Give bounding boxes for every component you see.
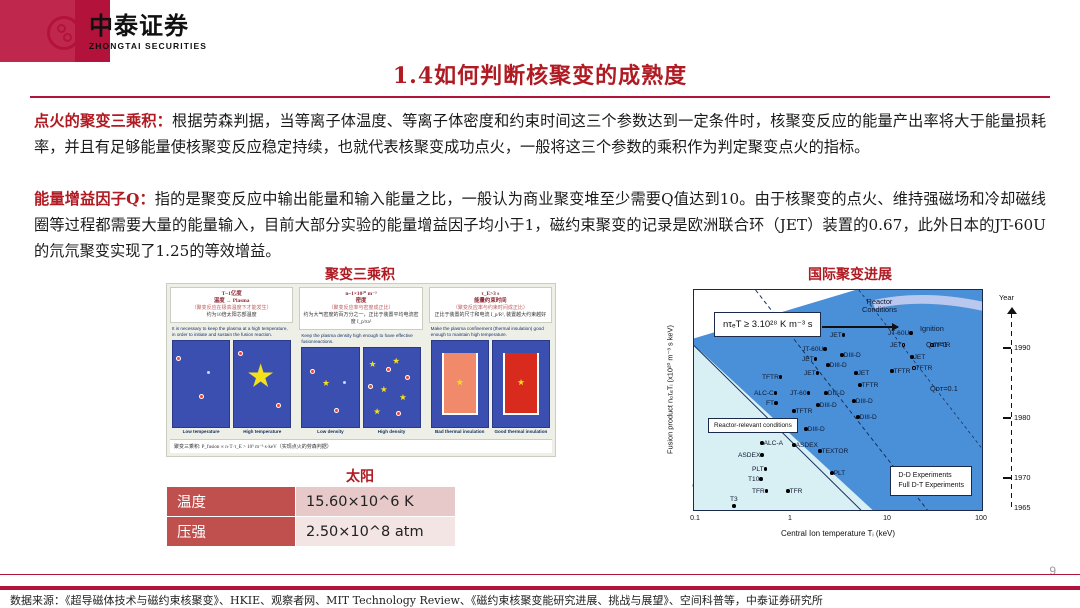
fusion-progress-chart: Fusion product n₀τₑTᵢ (x10²⁰ m⁻³ s keV) … bbox=[645, 285, 1050, 555]
ion-particle-icon bbox=[310, 369, 315, 374]
triple-column-confinement: τ_E>3 s 能量约束时间 （聚变反应率与约束时间成正比） 正比于装置的尺寸和… bbox=[429, 287, 552, 436]
electron-particle-icon bbox=[343, 381, 346, 384]
data-point: DIII-D bbox=[856, 414, 877, 421]
page-title: 1.4如何判断核聚变的成熟度 bbox=[0, 58, 1080, 90]
data-point: DIII-D bbox=[840, 352, 861, 359]
table-row: 压强 2.50×10^8 atm bbox=[167, 517, 456, 547]
column-symbol: T~1亿度 bbox=[173, 291, 290, 298]
chart-y-axis-label: Fusion product n₀τₑTᵢ (x10²⁰ m⁻³ s keV) bbox=[666, 305, 675, 475]
annotation-arrow-icon bbox=[822, 326, 898, 328]
fusion-star-icon bbox=[380, 386, 387, 393]
paragraph-lead: 点火的聚变三乘积： bbox=[34, 112, 172, 130]
column-header: n~1×10²⁰ m⁻³ 密度 （聚变反应率与密度成正比） 约为大气密度的百万分… bbox=[299, 287, 422, 330]
ion-particle-icon bbox=[386, 367, 391, 372]
data-point: FT bbox=[766, 400, 778, 407]
year-axis-tick: 1970 bbox=[1003, 473, 1030, 482]
data-point: PLT bbox=[830, 470, 845, 477]
label-reactor-conditions: ReactorConditions bbox=[862, 298, 897, 314]
data-point: JT-60U bbox=[888, 330, 913, 337]
column-note: （聚变反应在极高温度下才能发生） bbox=[173, 305, 290, 312]
column-subtitle: 密度 bbox=[302, 298, 419, 305]
illustration-canvas bbox=[233, 340, 291, 428]
triple-product-figure: T~1亿度 温度 → Plasma （聚变反应在极高温度下才能发生） 约为10倍… bbox=[166, 283, 556, 457]
paragraph-ignition: 点火的聚变三乘积：根据劳森判据，当等离子体温度、等离子体密度和约束时间这三个参数… bbox=[34, 108, 1046, 160]
ion-particle-icon bbox=[238, 351, 243, 356]
legend-label: Full D-T Experiments bbox=[898, 482, 964, 489]
illustration-canvas bbox=[301, 347, 359, 428]
data-point: TFTR bbox=[890, 368, 910, 375]
illustration-low-density: Low density bbox=[301, 347, 359, 434]
x-axis-tick: 10 bbox=[883, 515, 891, 522]
vessel-icon bbox=[503, 353, 539, 415]
label-ignition: Ignition bbox=[920, 324, 944, 333]
triple-column-density: n~1×10²⁰ m⁻³ 密度 （聚变反应率与密度成正比） 约为大气密度的百万分… bbox=[299, 287, 422, 436]
column-subtitle: 能量约束时间 bbox=[432, 298, 549, 305]
x-axis-tick: 1 bbox=[788, 515, 792, 522]
sun-parameters-table: 温度 15.60×10^6 K 压强 2.50×10^8 atm bbox=[166, 486, 456, 547]
column-english-text: Keep the plasma density high enough to h… bbox=[299, 330, 422, 347]
column-illustrations: Bad thermal insulation Good thermal insu… bbox=[429, 340, 552, 436]
lawson-criterion-box: nτₑT ≥ 3.10²⁸ K m⁻³ s bbox=[714, 312, 821, 337]
data-point: JET bbox=[804, 370, 819, 377]
illustration-label: High density bbox=[363, 428, 421, 434]
data-point: TFTR bbox=[858, 382, 878, 389]
brand-name-cn: 中泰证券 bbox=[89, 14, 207, 38]
paragraph-lead: 能量增益因子Q： bbox=[34, 190, 155, 208]
illustration-high-temperature: High temperature bbox=[233, 340, 291, 434]
fusion-star-icon bbox=[323, 380, 330, 387]
chart-x-axis-label: Central Ion temperature Tᵢ (keV) bbox=[693, 529, 983, 538]
data-point: DIII-D bbox=[852, 398, 873, 405]
paragraph-body: 指的是聚变反应中输出能量和输入能量之比，一般认为商业聚变堆至少需要Q值达到10。… bbox=[34, 190, 1046, 260]
brand-name-en: ZHONGTAI SECURITIES bbox=[89, 41, 207, 51]
fusion-star-icon bbox=[399, 394, 406, 401]
data-point: ALC-C bbox=[754, 390, 777, 397]
column-header: T~1亿度 温度 → Plasma （聚变反应在极高温度下才能发生） 约为10倍… bbox=[170, 287, 293, 323]
data-point: ALC-A bbox=[760, 440, 783, 447]
figure-caption-left: 聚变三乘积 bbox=[210, 264, 510, 284]
data-point: T10 bbox=[748, 476, 763, 483]
x-axis-tick: 100 bbox=[975, 515, 987, 522]
ion-particle-icon bbox=[405, 375, 410, 380]
column-detail: 正比于装置的尺寸和电流 I_p/R², 装置越大约束越好 bbox=[432, 312, 549, 319]
data-point: PLT bbox=[752, 466, 767, 473]
title-divider bbox=[30, 96, 1050, 98]
ion-particle-icon bbox=[199, 394, 204, 399]
data-point: DIII-D bbox=[826, 362, 847, 369]
data-point: JT-60U bbox=[802, 346, 827, 353]
x-axis-tick: 0.1 bbox=[690, 515, 700, 522]
column-detail: 约为10倍太阳芯部温度 bbox=[173, 312, 290, 319]
data-point: JET bbox=[854, 370, 869, 377]
data-point: TFR bbox=[752, 488, 768, 495]
data-point: DIII-D bbox=[804, 426, 825, 433]
illustration-canvas bbox=[172, 340, 230, 428]
illustration-label: Low density bbox=[301, 428, 359, 434]
data-point: TFTR bbox=[912, 365, 932, 372]
table-cell-key: 压强 bbox=[167, 517, 296, 547]
illustration-label: Low temperature bbox=[172, 428, 230, 434]
legend-entry-dd: D-D Experiments bbox=[898, 471, 964, 481]
illustration-label: High temperature bbox=[233, 428, 291, 434]
table-cell-value: 2.50×10^8 atm bbox=[296, 517, 456, 547]
illustration-canvas bbox=[431, 340, 489, 428]
table-cell-key: 温度 bbox=[167, 487, 296, 517]
illustration-canvas bbox=[492, 340, 550, 428]
column-symbol: n~1×10²⁰ m⁻³ bbox=[302, 291, 419, 298]
chart-plot-area: nτₑT ≥ 3.10²⁸ K m⁻³ s ReactorConditions … bbox=[693, 289, 983, 511]
illustration-label: Bad thermal insulation bbox=[431, 428, 489, 434]
year-axis-tick: 1980 bbox=[1003, 413, 1030, 422]
legend-label: D-D Experiments bbox=[898, 472, 951, 479]
column-illustrations: Low temperature High temperature bbox=[170, 340, 293, 436]
ion-particle-icon bbox=[334, 408, 339, 413]
ion-particle-icon bbox=[276, 403, 281, 408]
data-point: JET bbox=[910, 354, 925, 361]
brand-logo: 中泰证券 ZHONGTAI SECURITIES bbox=[47, 14, 207, 51]
column-detail: 约为大气密度的百万分之一，正比于装置平均电流密度 I_p/πa² bbox=[302, 312, 419, 326]
data-point: T3 bbox=[730, 496, 738, 510]
column-note: （聚变反应率与密度成正比） bbox=[302, 305, 419, 312]
table-cell-value: 15.60×10^6 K bbox=[296, 487, 456, 517]
fusion-burst-icon bbox=[248, 363, 274, 389]
figure-caption-sun: 太阳 bbox=[215, 466, 505, 486]
illustration-good-insulation: Good thermal insulation bbox=[492, 340, 550, 434]
column-english-text: It is necessary to keep the plasma at a … bbox=[170, 323, 293, 340]
data-point: JET bbox=[890, 342, 905, 349]
page-number: 9 bbox=[1049, 564, 1056, 578]
zhongtai-logo-icon bbox=[47, 16, 81, 50]
fusion-star-icon bbox=[393, 357, 400, 364]
reactor-relevant-conditions-box: Reactor-relevant conditions bbox=[708, 418, 798, 433]
column-subtitle: 温度 → Plasma bbox=[173, 298, 290, 305]
data-point: DIII-D bbox=[816, 402, 837, 409]
data-point: ASDEX bbox=[792, 442, 818, 449]
column-note: （聚变反应率与约束时间成正比） bbox=[432, 305, 549, 312]
illustration-label: Good thermal insulation bbox=[492, 428, 550, 434]
data-point: JT-60 bbox=[790, 390, 810, 397]
ion-particle-icon bbox=[176, 356, 181, 361]
year-axis-tick: 1990 bbox=[1003, 343, 1030, 352]
triple-column-temperature: T~1亿度 温度 → Plasma （聚变反应在极高温度下才能发生） 约为10倍… bbox=[170, 287, 293, 436]
column-illustrations: Low density High density bbox=[299, 347, 422, 436]
fusion-star-icon bbox=[369, 361, 376, 368]
column-header: τ_E>3 s 能量约束时间 （聚变反应率与约束时间成正比） 正比于装置的尺寸和… bbox=[429, 287, 552, 323]
legend-entry-dt: Full D-T Experiments bbox=[898, 481, 964, 491]
column-symbol: τ_E>3 s bbox=[432, 291, 549, 298]
chart-legend: D-D Experiments Full D-T Experiments bbox=[890, 466, 972, 496]
paragraph-body: 根据劳森判据，当等离子体温度、等离子体密度和约束时间这三个参数达到一定条件时，核… bbox=[34, 112, 1046, 156]
fusion-star-icon bbox=[374, 408, 381, 415]
label-qdt-01: Qᴅᴛ=0.1 bbox=[930, 384, 958, 393]
illustration-canvas bbox=[363, 347, 421, 428]
data-point: ASDEX bbox=[738, 452, 764, 459]
data-point: TFR bbox=[786, 488, 802, 495]
paragraph-q-factor: 能量增益因子Q：指的是聚变反应中输出能量和输入能量之比，一般认为商业聚变堆至少需… bbox=[34, 186, 1046, 264]
data-point: JET bbox=[830, 332, 845, 339]
figure-caption-right: 国际聚变进展 bbox=[700, 264, 1000, 284]
illustration-low-temperature: Low temperature bbox=[172, 340, 230, 434]
data-point: JET bbox=[802, 356, 817, 363]
column-english-text: Make the plasma confinement (thermal ins… bbox=[429, 323, 552, 340]
triple-product-columns: T~1亿度 温度 → Plasma （聚变反应在极高温度下才能发生） 约为10倍… bbox=[167, 284, 555, 439]
ion-particle-icon bbox=[396, 411, 401, 416]
data-point: TFTR bbox=[930, 342, 950, 349]
illustration-bad-insulation: Bad thermal insulation bbox=[431, 340, 489, 434]
vessel-icon bbox=[442, 353, 478, 415]
footer-divider bbox=[0, 586, 1080, 590]
ion-particle-icon bbox=[368, 384, 373, 389]
triple-product-footnote: 聚变三乘积: P_fusion ∝ n·T·τ_E > 10⁵ m⁻³·s·ke… bbox=[170, 439, 552, 453]
year-axis-tick: 1965 bbox=[1003, 503, 1030, 512]
data-point: DIII-D bbox=[824, 390, 845, 397]
table-row: 温度 15.60×10^6 K bbox=[167, 487, 456, 517]
data-point: TEXTOR bbox=[818, 448, 848, 455]
year-axis-label: Year bbox=[999, 293, 1014, 302]
electron-particle-icon bbox=[207, 371, 210, 374]
data-point: TFTR bbox=[792, 408, 812, 415]
footer-source: 数据来源：《超导磁体技术与磁约束核聚变》、HKIE、观察者网、MIT Techn… bbox=[10, 592, 1070, 608]
data-point: TFTR bbox=[762, 374, 782, 381]
illustration-high-density: High density bbox=[363, 347, 421, 434]
footer-thin-divider bbox=[0, 574, 1080, 575]
